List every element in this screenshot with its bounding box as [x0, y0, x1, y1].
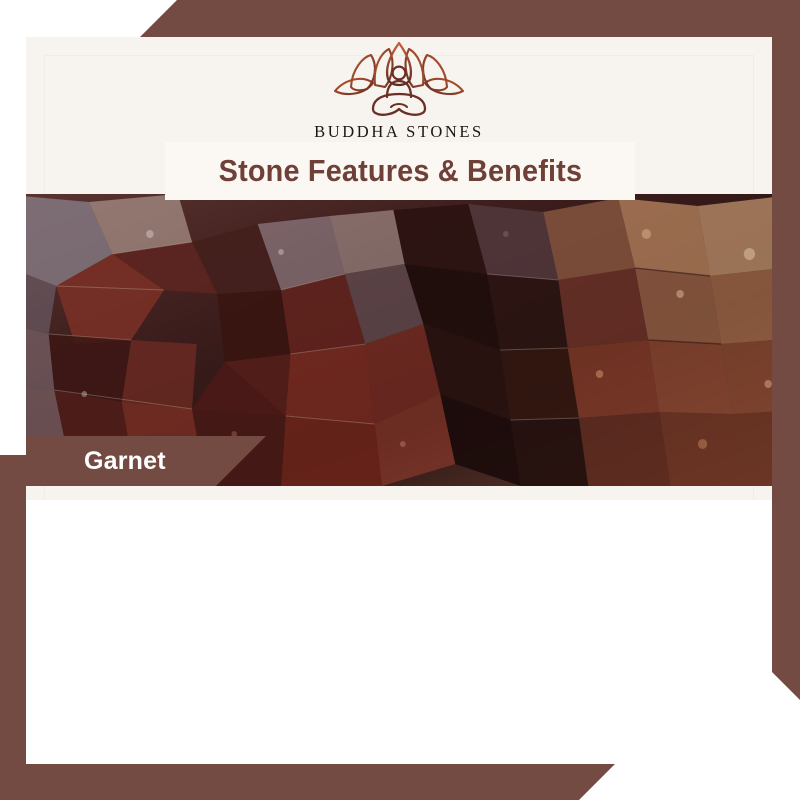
- lotus-meditation-icon: [325, 41, 473, 117]
- title-banner: Stone Features & Benefits: [165, 142, 635, 200]
- brand-name: BUDDHA STONES: [314, 122, 484, 142]
- stone-name: Garnet: [84, 447, 166, 476]
- content-sheet: BUDDHA STONES Stone Features & Benefits: [26, 37, 772, 764]
- frame-bar-right: [772, 0, 800, 700]
- infographic-page: BUDDHA STONES Stone Features & Benefits: [0, 0, 800, 800]
- page-title: Stone Features & Benefits: [218, 153, 582, 189]
- stone-photo: Garnet: [26, 194, 772, 486]
- frame-bar-left: [0, 455, 26, 800]
- frame-bar-bottom: [0, 764, 615, 800]
- lower-white-card: [26, 500, 772, 764]
- frame-bar-top: [140, 0, 800, 37]
